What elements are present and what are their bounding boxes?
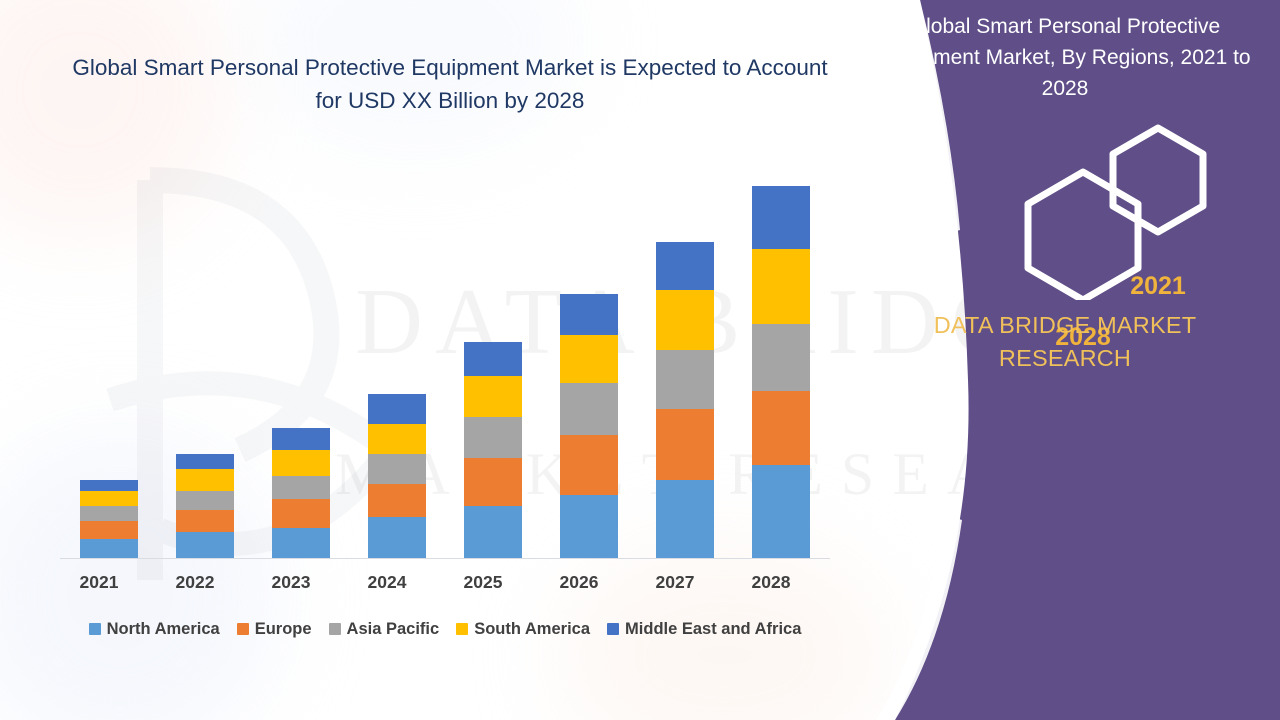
bar-segment[interactable] bbox=[176, 491, 234, 510]
bar-segment[interactable] bbox=[368, 484, 426, 517]
bar-segment[interactable] bbox=[80, 506, 138, 521]
legend-swatch-icon bbox=[237, 623, 249, 635]
bar-group-2027[interactable] bbox=[656, 242, 714, 558]
x-axis-label-2022: 2022 bbox=[159, 572, 231, 593]
x-axis-label-2024: 2024 bbox=[351, 572, 423, 593]
bar-segment[interactable] bbox=[560, 435, 618, 495]
legend-label: Middle East and Africa bbox=[625, 620, 801, 639]
bar-segment[interactable] bbox=[464, 376, 522, 417]
bar-segment[interactable] bbox=[272, 476, 330, 498]
bar-segment[interactable] bbox=[656, 350, 714, 410]
bar-group-2023[interactable] bbox=[272, 428, 330, 558]
hexagon-2021-outline bbox=[1113, 128, 1203, 232]
legend-label: North America bbox=[107, 620, 220, 639]
bar-segment[interactable] bbox=[368, 424, 426, 454]
bar-segment[interactable] bbox=[560, 294, 618, 335]
bar-group-2024[interactable] bbox=[368, 394, 426, 558]
hexagon-2021-label: 2021 bbox=[1118, 272, 1198, 301]
chart-title: Global Smart Personal Protective Equipme… bbox=[60, 52, 840, 117]
bar-segment[interactable] bbox=[656, 480, 714, 558]
brand-line2: RESEARCH bbox=[999, 345, 1131, 371]
x-axis-labels: 20212022202320242025202620272028 bbox=[50, 572, 830, 598]
legend-item[interactable]: North America bbox=[89, 620, 220, 639]
bar-segment[interactable] bbox=[176, 454, 234, 469]
legend-swatch-icon bbox=[89, 623, 101, 635]
bar-segment[interactable] bbox=[464, 506, 522, 558]
bar-segment[interactable] bbox=[272, 450, 330, 476]
bar-segment[interactable] bbox=[176, 469, 234, 491]
bar-segment[interactable] bbox=[464, 458, 522, 506]
legend-label: South America bbox=[474, 620, 590, 639]
bar-segment[interactable] bbox=[80, 539, 138, 558]
legend-label: Asia Pacific bbox=[347, 620, 440, 639]
chart-legend: North AmericaEuropeAsia PacificSouth Ame… bbox=[50, 617, 840, 641]
brand-name: DATA BRIDGE MARKET RESEARCH bbox=[900, 309, 1230, 376]
bar-segment[interactable] bbox=[560, 495, 618, 558]
legend-swatch-icon bbox=[607, 623, 619, 635]
bar-segment[interactable] bbox=[176, 510, 234, 532]
x-axis-label-2027: 2027 bbox=[639, 572, 711, 593]
bar-segment[interactable] bbox=[272, 528, 330, 558]
bar-segment[interactable] bbox=[176, 532, 234, 558]
bar-segment[interactable] bbox=[272, 428, 330, 450]
bar-group-2021[interactable] bbox=[80, 480, 138, 558]
bar-segment[interactable] bbox=[464, 342, 522, 375]
chart-plot-area bbox=[50, 150, 830, 560]
bar-segment[interactable] bbox=[368, 394, 426, 424]
bar-segment[interactable] bbox=[368, 454, 426, 484]
bar-group-2026[interactable] bbox=[560, 294, 618, 558]
bar-segment[interactable] bbox=[80, 480, 138, 491]
x-axis-label-2021: 2021 bbox=[63, 572, 135, 593]
brand-line1: DATA BRIDGE MARKET bbox=[934, 312, 1197, 338]
slide-canvas: DATA BRIDGE MARKET RESEARCH Global Smart… bbox=[0, 0, 1280, 720]
x-axis-label-2023: 2023 bbox=[255, 572, 327, 593]
bar-segment[interactable] bbox=[656, 409, 714, 480]
legend-item[interactable]: South America bbox=[456, 620, 590, 639]
bar-segment[interactable] bbox=[368, 517, 426, 558]
bar-segment[interactable] bbox=[80, 521, 138, 540]
bar-segment[interactable] bbox=[80, 491, 138, 506]
bar-segment[interactable] bbox=[656, 242, 714, 290]
x-axis-label-2028: 2028 bbox=[735, 572, 807, 593]
bar-segment[interactable] bbox=[560, 335, 618, 383]
x-axis-label-2026: 2026 bbox=[543, 572, 615, 593]
bar-segment[interactable] bbox=[656, 290, 714, 350]
legend-swatch-icon bbox=[329, 623, 341, 635]
bar-segment[interactable] bbox=[560, 383, 618, 435]
panel-content: Global Smart Personal Protective Equipme… bbox=[800, 0, 1280, 720]
bar-segment[interactable] bbox=[272, 499, 330, 529]
x-axis-label-2025: 2025 bbox=[447, 572, 519, 593]
legend-item[interactable]: Middle East and Africa bbox=[607, 620, 801, 639]
panel-title: Global Smart Personal Protective Equipme… bbox=[870, 12, 1260, 105]
bar-segment[interactable] bbox=[464, 417, 522, 458]
bar-group-2025[interactable] bbox=[464, 342, 522, 558]
category-axis-line bbox=[60, 558, 830, 559]
hexagon-badges: 2021 2028 bbox=[800, 110, 1280, 300]
bar-group-2022[interactable] bbox=[176, 454, 234, 558]
legend-item[interactable]: Asia Pacific bbox=[329, 620, 440, 639]
legend-label: Europe bbox=[255, 620, 312, 639]
legend-swatch-icon bbox=[456, 623, 468, 635]
legend-item[interactable]: Europe bbox=[237, 620, 312, 639]
